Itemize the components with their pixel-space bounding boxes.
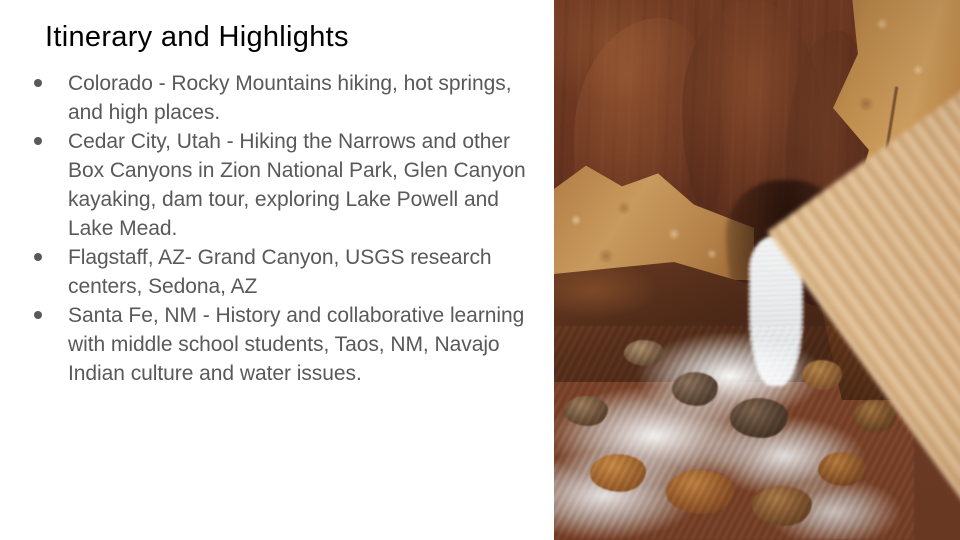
- highlights-bullet-list: Colorado - Rocky Mountains hiking, hot s…: [28, 69, 548, 388]
- bullet-circle-icon: [34, 253, 42, 261]
- presentation-slide: Itinerary and Highlights Colorado - Rock…: [0, 0, 960, 540]
- list-item: Flagstaff, AZ- Grand Canyon, USGS resear…: [28, 243, 548, 301]
- list-item-text: Santa Fe, NM - History and collaborative…: [68, 304, 524, 385]
- waterfall-canyon-photo: [554, 0, 960, 540]
- bullet-circle-icon: [34, 137, 42, 145]
- page-title: Itinerary and Highlights: [45, 19, 349, 55]
- list-item-text: Colorado - Rocky Mountains hiking, hot s…: [68, 72, 512, 124]
- list-item-text: Flagstaff, AZ- Grand Canyon, USGS resear…: [68, 246, 492, 298]
- bullet-circle-icon: [34, 79, 42, 87]
- list-item: Colorado - Rocky Mountains hiking, hot s…: [28, 69, 548, 127]
- list-item: Cedar City, Utah - Hiking the Narrows an…: [28, 127, 548, 243]
- list-item: Santa Fe, NM - History and collaborative…: [28, 301, 548, 388]
- slide-text-column: Itinerary and Highlights Colorado - Rock…: [0, 0, 554, 540]
- bullet-circle-icon: [34, 311, 42, 319]
- list-item-text: Cedar City, Utah - Hiking the Narrows an…: [68, 130, 526, 240]
